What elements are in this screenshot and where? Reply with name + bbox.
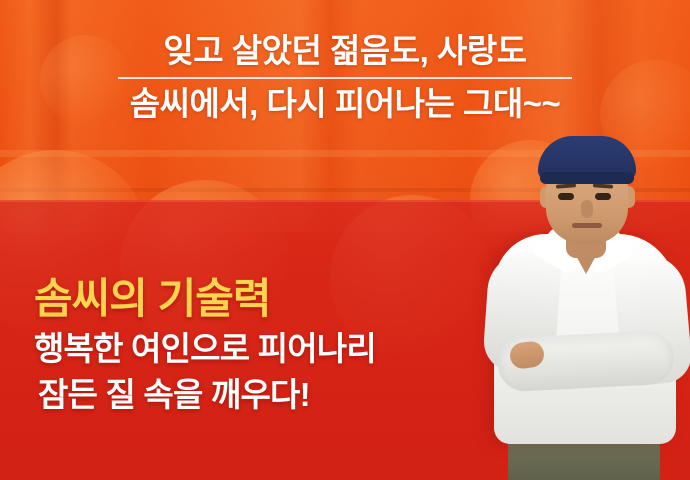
promo-title: 솜씨의 기술력 <box>34 272 504 326</box>
promo-copy: 솜씨의 기술력 행복한 여인으로 피어나리 잠든 질 속을 깨우다! <box>34 272 504 418</box>
doctor-nose <box>581 200 593 218</box>
promo-subtitle-1: 행복한 여인으로 피어나리 <box>34 326 504 372</box>
doctor-mouth <box>572 223 602 228</box>
headline-underline <box>118 77 572 79</box>
doctor-eye-right <box>595 193 611 200</box>
headline-line-1: 잊고 살았던 젊음도, 사랑도 <box>0 24 690 77</box>
surgical-cap <box>538 136 636 180</box>
doctor-photo <box>480 140 690 480</box>
promo-subtitle-2: 잠든 질 속을 깨우다! <box>38 372 504 418</box>
headline-line-2: 솜씨에서, 다시 피어나는 그대~~ <box>0 77 690 130</box>
promo-banner: 잊고 살았던 젊음도, 사랑도 솜씨에서, 다시 피어나는 그대~~ 솜씨의 기… <box>0 0 690 480</box>
doctor-eye-left <box>558 193 574 200</box>
